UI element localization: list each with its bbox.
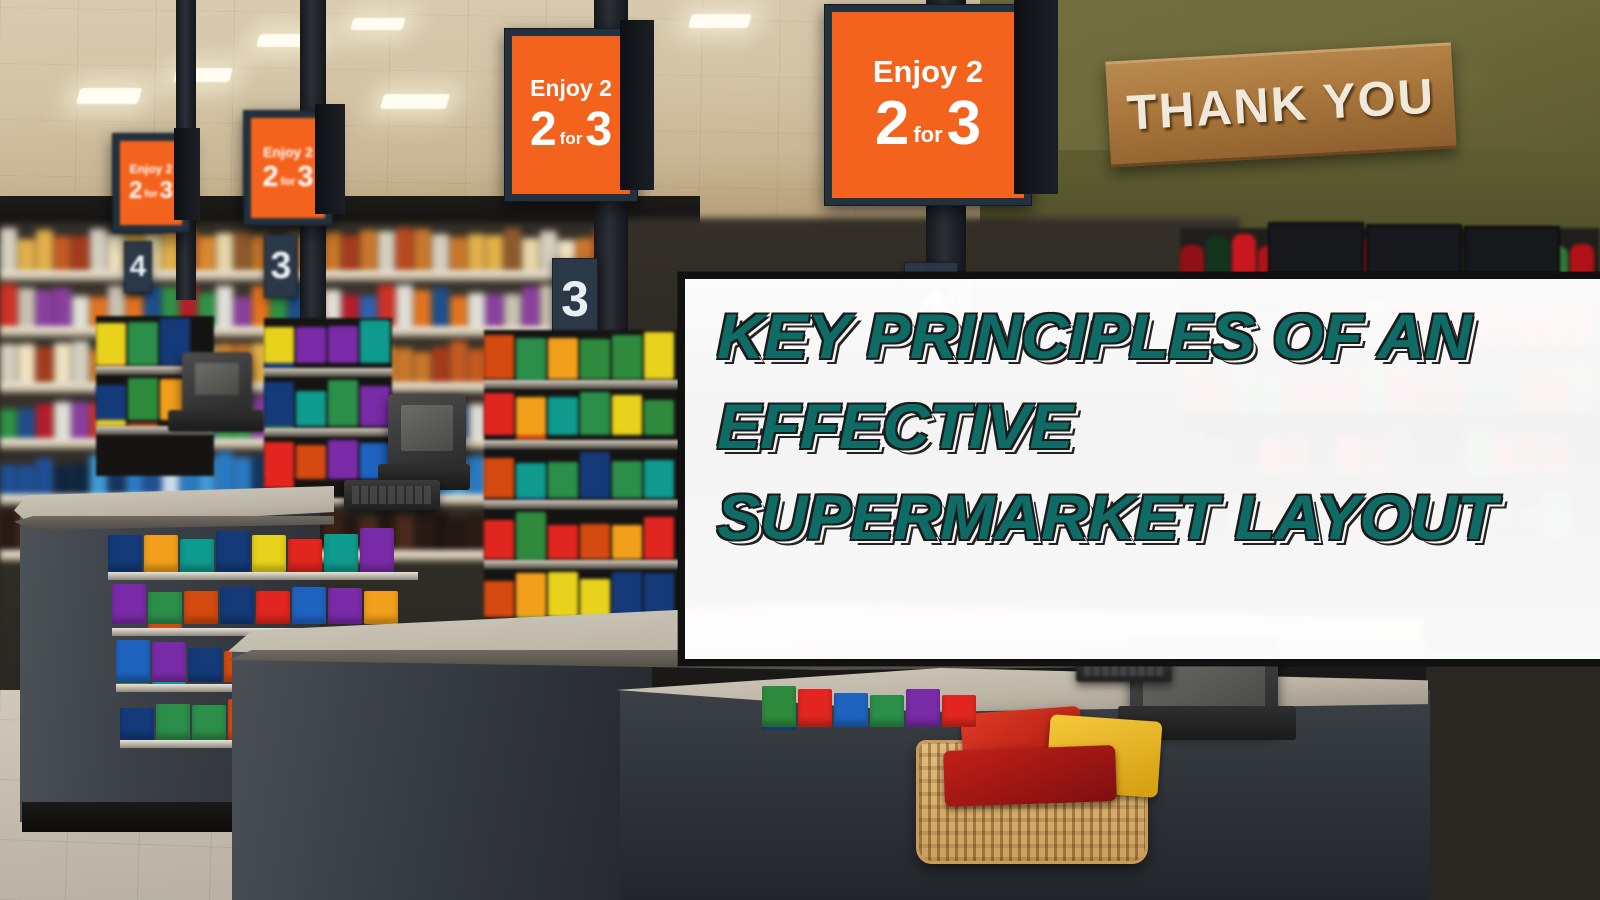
candy-shelf	[762, 686, 992, 730]
aisle-number-sign: 4	[124, 241, 152, 293]
promo-qty: 2	[875, 93, 909, 155]
promo-line1: Enjoy 2	[530, 77, 612, 100]
thank-you-sign: THANK YOU	[1105, 42, 1456, 167]
pos-terminal[interactable]	[182, 352, 252, 414]
promo-price: 3	[297, 163, 313, 192]
pos-base	[168, 410, 264, 432]
promo-price: 3	[160, 179, 173, 203]
supermarket-scene: THANK YOU	[0, 0, 1600, 900]
aisle-number-label: 3	[270, 245, 291, 288]
candy-bag	[943, 745, 1117, 807]
promo-line1: Enjoy 2	[130, 163, 173, 175]
promo-qty: 2	[263, 163, 279, 192]
thank-you-label: THANK YOU	[1125, 68, 1436, 141]
title-line-3: SUPERMARKET LAYOUT	[717, 486, 1600, 550]
ceiling-light	[380, 94, 450, 109]
candy-rack	[264, 318, 392, 498]
promo-sign: Enjoy 2 2 for 3	[824, 4, 1032, 206]
aisle-number-label: 3	[561, 270, 589, 328]
aisle-number-sign: 3	[264, 234, 298, 298]
candy-shelf	[108, 528, 418, 572]
promo-line1: Enjoy 2	[263, 145, 313, 159]
candy-shelf	[112, 584, 418, 628]
aisle-number-label: 4	[130, 250, 147, 284]
ceiling-light	[688, 14, 752, 28]
title-line-1: KEY PRINCIPLES OF AN	[717, 305, 1600, 369]
promo-connector: for	[913, 124, 942, 146]
ceiling-light	[350, 18, 405, 30]
promo-line1: Enjoy 2	[873, 56, 983, 87]
title-card: 4 KEY PRINCIPLES OF AN EFFECTIVE SUPERMA…	[678, 272, 1600, 666]
promo-connector: for	[144, 190, 157, 200]
promo-price: 3	[947, 93, 981, 155]
endcap-display	[484, 330, 684, 620]
promo-price: 3	[585, 106, 612, 154]
promo-qty: 2	[530, 106, 557, 154]
ceiling-light	[76, 88, 143, 104]
title-block: KEY PRINCIPLES OF AN EFFECTIVE SUPERMARK…	[717, 305, 1599, 576]
title-line-2: EFFECTIVE	[717, 395, 1600, 459]
pos-keyboard[interactable]	[344, 480, 440, 510]
promo-connector: for	[560, 130, 583, 147]
pos-terminal[interactable]	[388, 394, 466, 470]
promo-connector: for	[281, 177, 296, 188]
promo-qty: 2	[129, 179, 142, 203]
aisle-number-sign: 3	[552, 258, 598, 340]
promo-sign: Enjoy 2 2 for 3	[504, 28, 638, 202]
